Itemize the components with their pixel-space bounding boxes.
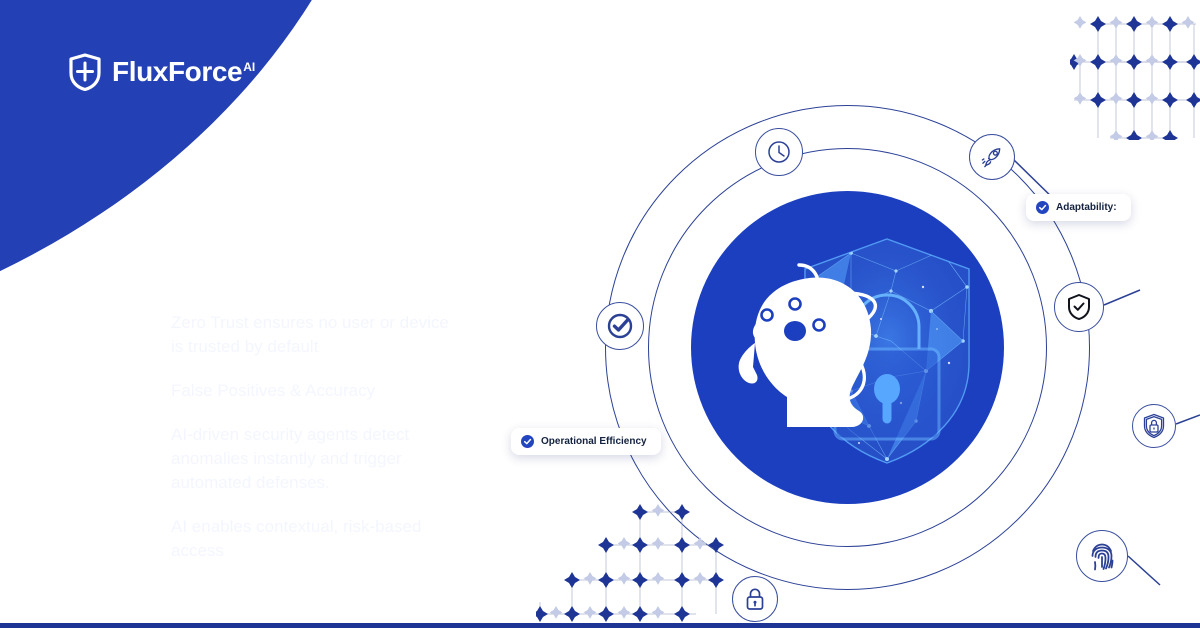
orbit-node-shield-check[interactable] [1054,282,1104,332]
orbit-node-shield-lock[interactable] [1132,404,1176,448]
list-item-label: Zero Trust ensures no user or device is … [171,311,457,359]
brand-superscript: AI [243,60,255,74]
padlock-icon [743,586,767,612]
feature-list: ✦ Zero Trust ensures no user or device i… [149,311,457,563]
list-item-label: False Positives & Accuracy [171,379,375,403]
clock-icon [766,139,792,165]
page-title: Zero Trust + Agentic AI [151,258,457,289]
badge-label: Operational Efficiency [541,436,647,447]
center-disc [691,191,1004,504]
orbit-node-rocket[interactable] [969,134,1015,180]
shield-lock-icon [1142,413,1166,439]
sparkle-icon: ✦ [149,379,162,403]
orbit-node-fingerprint[interactable] [1076,530,1128,582]
brand-name: FluxForceAI [112,58,255,86]
sparkle-icon: ✦ [149,423,162,495]
check-circle-icon [521,435,534,448]
badge-adaptability[interactable]: Adaptability: [1026,194,1131,221]
shield-check-icon [1066,293,1092,321]
list-item: ✦ Zero Trust ensures no user or device i… [149,311,457,359]
orbit-node-check[interactable] [596,302,644,350]
sparkle-grid-bottom-left [536,490,736,628]
list-item-label: AI enables contextual, risk-based access [171,515,457,563]
ai-head-shield-illustration [691,191,1004,504]
brand-logo[interactable]: FluxForceAI [68,53,255,91]
brand-name-text: FluxForce [112,56,242,87]
content-card: Zero Trust + Agentic AI ✦ Zero Trust ens… [127,225,487,628]
sparkle-icon: ✦ [149,515,162,563]
orbit-node-clock[interactable] [755,128,803,176]
list-item-label: AI-driven security agents detect anomali… [171,423,457,495]
shield-cross-icon [68,53,102,91]
check-circle-icon [1036,201,1049,214]
list-item: ✦ AI-driven security agents detect anoma… [149,423,457,495]
banner-canvas: FluxForceAI [0,0,1200,628]
bottom-accent-bar [0,623,1200,628]
sparkle-icon: ✦ [149,311,162,359]
list-item: ✦ False Positives & Accuracy [149,379,457,403]
badge-operational-efficiency[interactable]: Operational Efficiency [511,428,661,455]
badge-label: Adaptability: [1056,202,1117,213]
fingerprint-icon [1087,540,1117,572]
rocket-icon [980,145,1005,170]
orbit-node-padlock[interactable] [732,576,778,622]
list-item: ✦ AI enables contextual, risk-based acce… [149,515,457,563]
sparkle-grid-top-right [1070,0,1200,145]
check-circle-icon [605,311,635,341]
